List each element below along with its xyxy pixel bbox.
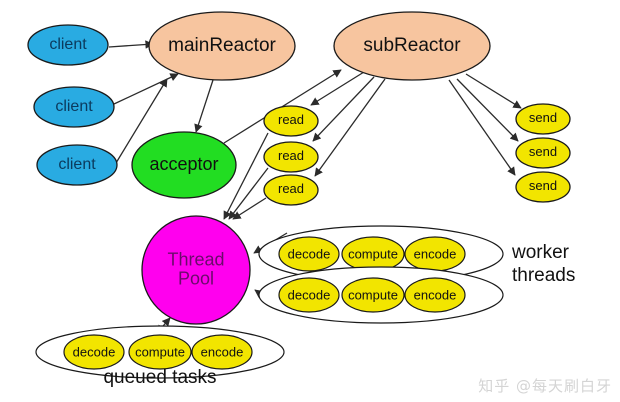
edge-subReactor-read2 <box>313 77 374 141</box>
edge-mainReactor-acceptor <box>196 80 213 132</box>
worker-threads-label: workerthreads <box>511 242 575 286</box>
node-client2[interactable]: client <box>34 87 114 127</box>
task-label: compute <box>135 344 185 359</box>
task-encode[interactable]: encode <box>405 278 465 312</box>
node-label: acceptor <box>149 154 218 174</box>
node-read2[interactable]: read <box>264 142 318 172</box>
task-label: decode <box>288 246 331 261</box>
node-threadPool[interactable]: ThreadPool <box>142 216 250 324</box>
node-label: read <box>278 148 304 163</box>
groups-layer: decodecomputeencodedecodecomputeencodede… <box>36 226 503 378</box>
task-decode[interactable]: decode <box>279 278 339 312</box>
node-label: read <box>278 112 304 127</box>
node-read1[interactable]: read <box>264 106 318 136</box>
task-compute[interactable]: compute <box>342 278 404 312</box>
node-label: client <box>55 98 93 115</box>
node-label: read <box>278 181 304 196</box>
node-label: send <box>529 110 557 125</box>
task-decode[interactable]: decode <box>64 335 124 369</box>
task-label: compute <box>348 246 398 261</box>
node-send3[interactable]: send <box>516 172 570 202</box>
task-compute[interactable]: compute <box>129 335 191 369</box>
watermark: 知乎 @每天刷白牙 <box>478 375 612 396</box>
task-label: encode <box>201 344 244 359</box>
group-worker2: decodecomputeencode <box>259 267 503 323</box>
edge-subReactor-send2 <box>457 79 518 141</box>
task-decode[interactable]: decode <box>279 237 339 271</box>
edge-read2-threadPool <box>229 168 268 219</box>
edge-subReactor-read1 <box>311 72 364 105</box>
node-subReactor[interactable]: subReactor <box>334 12 490 80</box>
task-encode[interactable]: encode <box>405 237 465 271</box>
node-client3[interactable]: client <box>37 145 117 185</box>
task-label: decode <box>288 287 331 302</box>
edge-client1-mainReactor <box>109 44 153 47</box>
node-label: client <box>49 36 87 53</box>
node-client1[interactable]: client <box>28 25 108 65</box>
queued-tasks-label: queued tasks <box>103 367 216 388</box>
node-label: subReactor <box>363 35 461 56</box>
task-label: encode <box>414 246 457 261</box>
node-label: client <box>58 156 96 173</box>
task-compute[interactable]: compute <box>342 237 404 271</box>
node-label: send <box>529 178 557 193</box>
task-encode[interactable]: encode <box>192 335 252 369</box>
node-read3[interactable]: read <box>264 175 318 205</box>
reactor-diagram-svg: decodecomputeencodedecodecomputeencodede… <box>0 0 620 402</box>
edge-read3-threadPool <box>233 198 266 219</box>
edge-subReactor-send1 <box>466 74 521 108</box>
edge-client2-mainReactor <box>114 74 178 104</box>
node-mainReactor[interactable]: mainReactor <box>149 12 295 80</box>
node-send2[interactable]: send <box>516 138 570 168</box>
task-label: decode <box>73 344 116 359</box>
node-acceptor[interactable]: acceptor <box>132 132 236 198</box>
node-label: send <box>529 144 557 159</box>
task-label: compute <box>348 287 398 302</box>
node-label: mainReactor <box>168 35 276 56</box>
task-label: encode <box>414 287 457 302</box>
node-send1[interactable]: send <box>516 104 570 134</box>
diagram-canvas: decodecomputeencodedecodecomputeencodede… <box>0 0 620 402</box>
